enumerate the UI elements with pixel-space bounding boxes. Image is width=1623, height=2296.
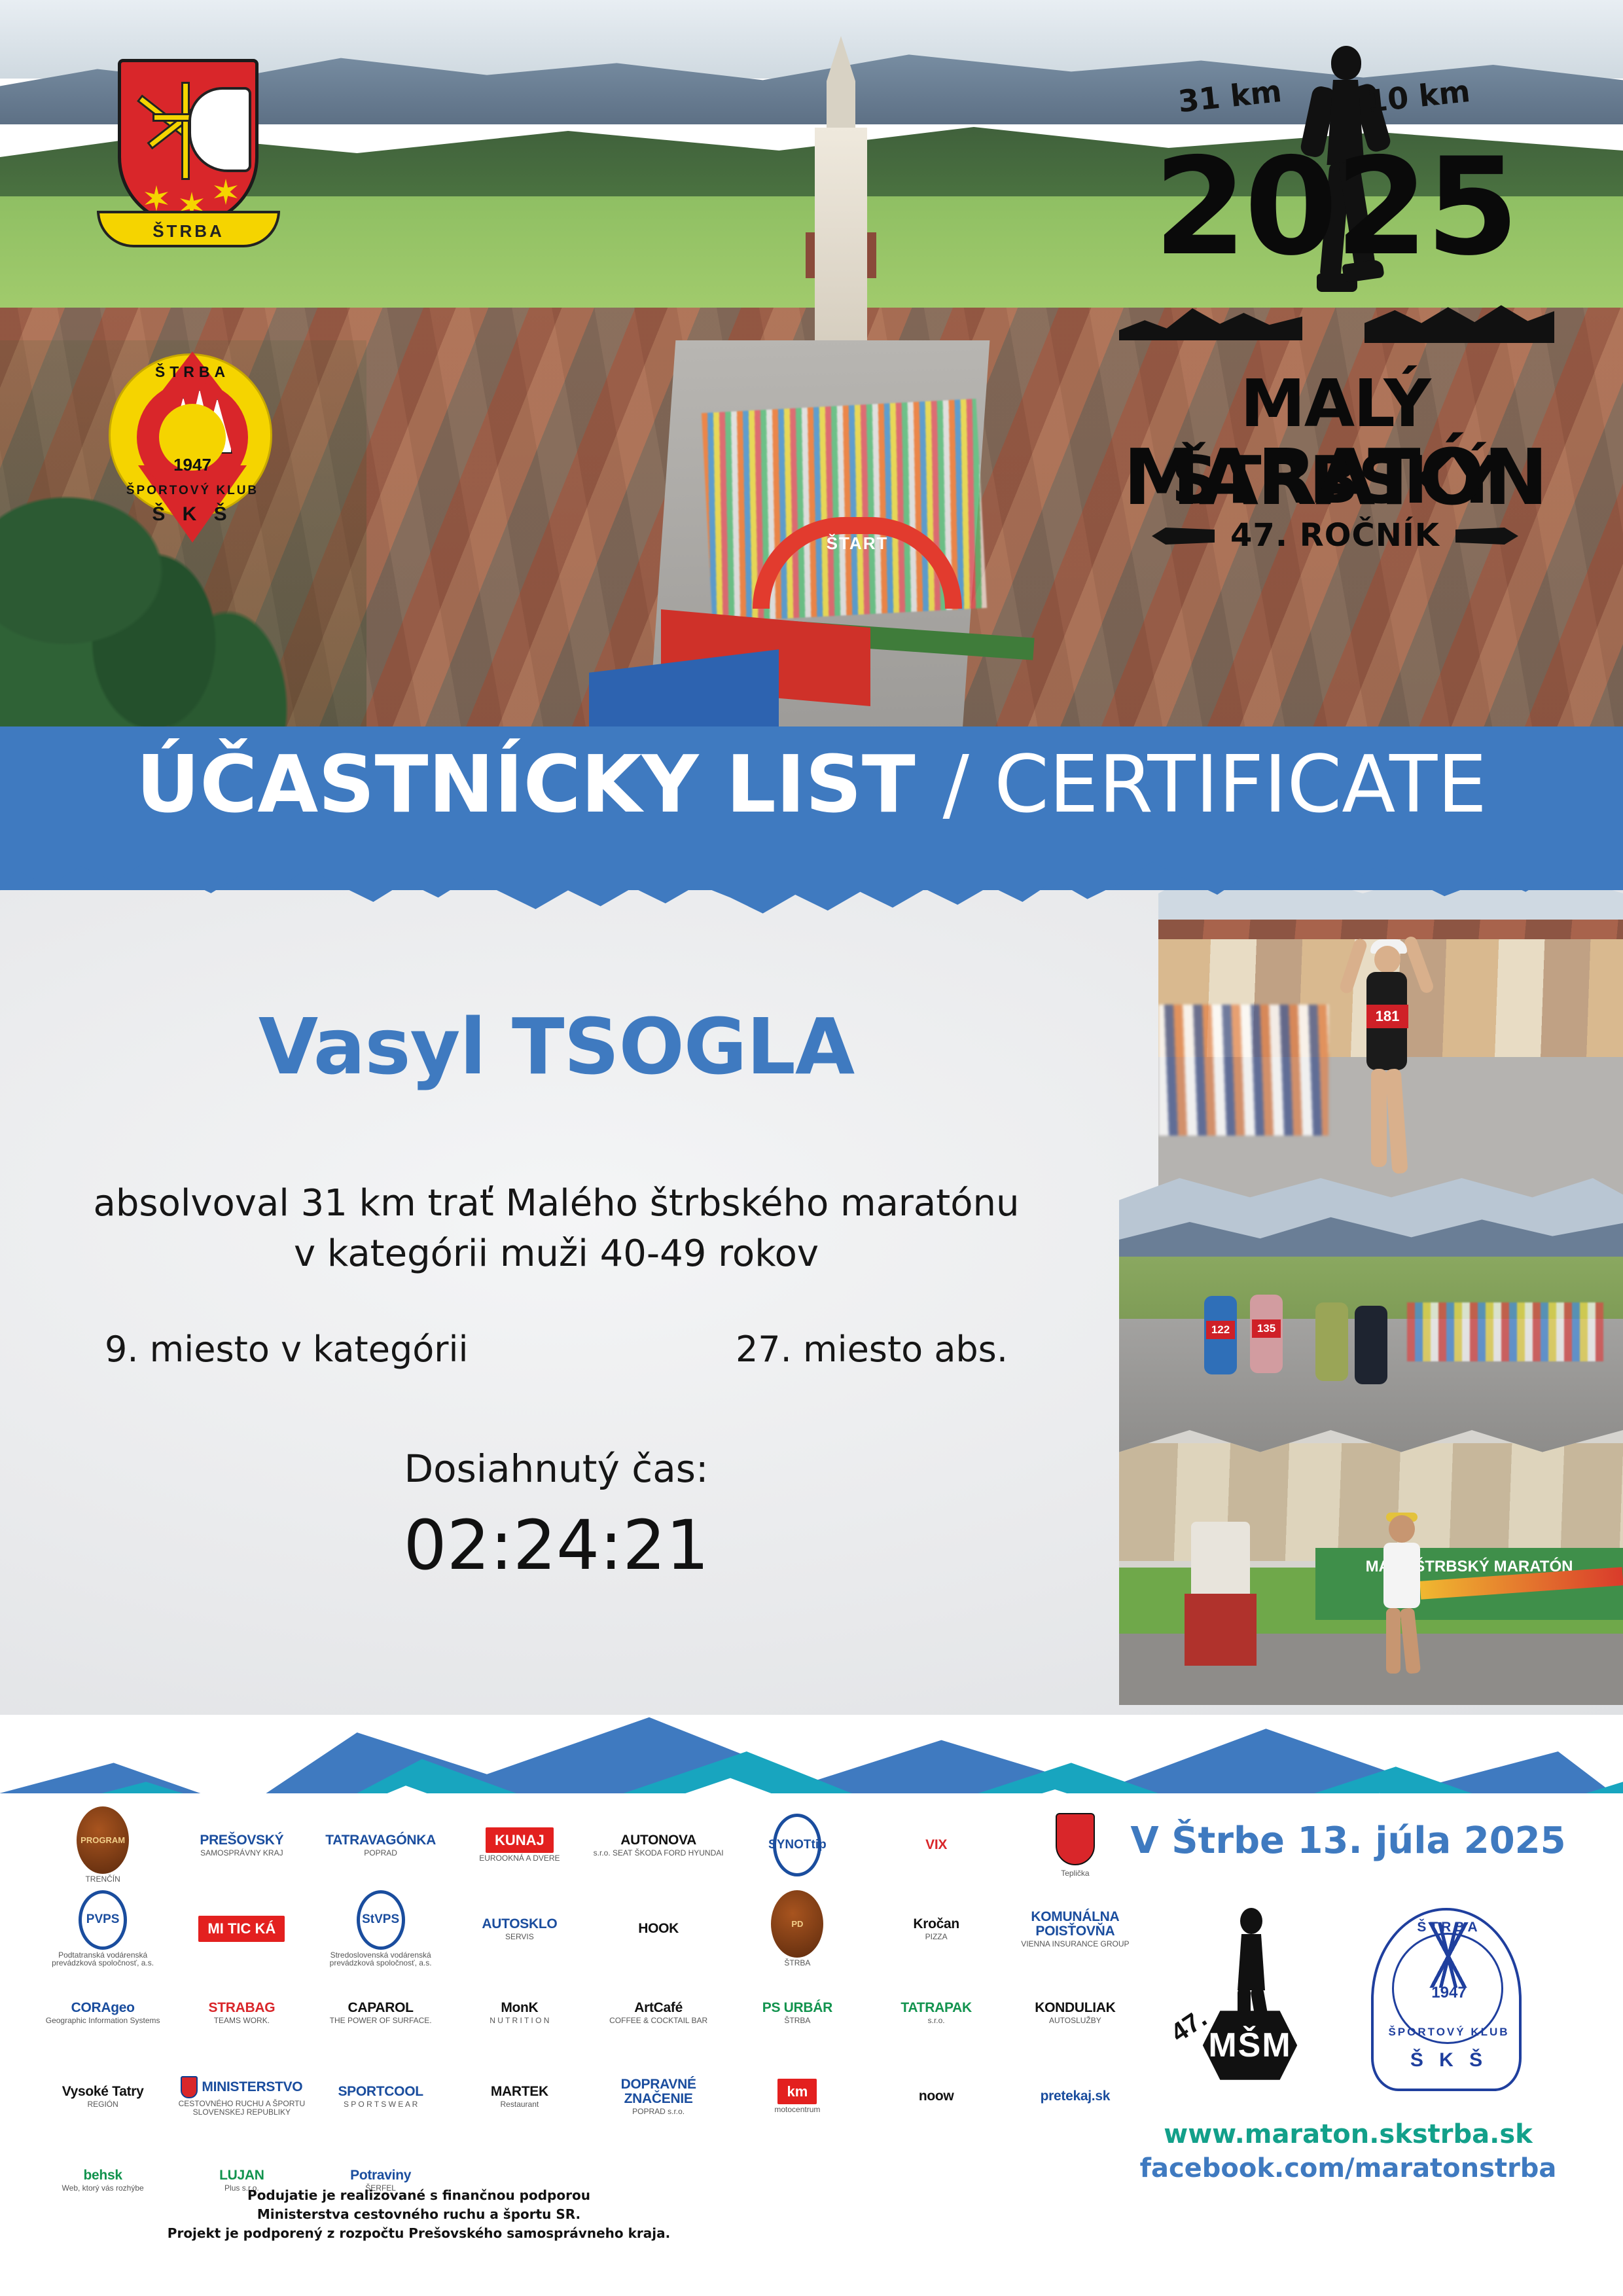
sponsor-name: MonK: [501, 2001, 538, 2015]
sks-stamp-mid-text: ŠPORTOVÝ KLUB: [1374, 2026, 1524, 2039]
placement-row: 9. miesto v kategórii 27. miesto abs.: [0, 1329, 1113, 1370]
marathon-event-logo: 2025 31 km 10 km MALÝ ŠTRBSKÝ MARATÓN 47…: [1113, 46, 1558, 602]
participant-name: Vasyl TSOGLA: [0, 1001, 1113, 1092]
sponsor-logo: Vysoké TatryREGIÓN: [36, 2058, 169, 2135]
bib-number-181: 181: [1366, 1005, 1408, 1028]
sponsor-logo: TATRAPAKs.r.o.: [870, 1974, 1003, 2051]
sponsor-name: KONDULIAK: [1035, 2001, 1115, 2015]
sponsor-logo: TATRAVAGÓNKAPOPRAD: [314, 1806, 448, 1884]
distance-31km: 31 km: [1177, 73, 1283, 119]
sponsor-name: Kročan: [913, 1917, 959, 1931]
slovak-flag-icon: [181, 2076, 198, 2098]
sponsor-name: km: [777, 2079, 817, 2104]
sponsor-tagline: s.r.o.: [928, 2017, 945, 2025]
sponsor-tagline: SERVIS: [505, 1933, 534, 1941]
sponsor-name: STRABAG: [209, 2001, 276, 2015]
sponsor-tagline: SAMOSPRÁVNY KRAJ: [200, 1849, 283, 1857]
sponsor-tagline: ŠTRBA: [784, 2017, 810, 2025]
sponsor-tagline: TRENČÍN: [85, 1875, 120, 1884]
sponsor-tagline: POPRAD s.r.o.: [632, 2108, 685, 2116]
funding-support-note: Podujatie je realizované s finančnou pod…: [39, 2186, 798, 2243]
sponsor-tagline: REGIÓN: [87, 2100, 118, 2109]
sponsor-name: HOOK: [638, 1922, 679, 1936]
sponsor-name: MARTEK: [491, 2085, 548, 2099]
msm-emblem: 47. MŠM: [1175, 1908, 1319, 2091]
sponsor-tagline: PIZZA: [925, 1933, 948, 1941]
sponsor-name: PS URBÁR: [762, 2001, 832, 2015]
event-edition: 47. ROČNÍK: [1113, 517, 1558, 554]
bib-number-135: 135: [1252, 1319, 1281, 1338]
msm-diamond-label: MŠM: [1188, 2006, 1312, 2085]
sks-logo-top-text: ŠTRBA: [111, 363, 274, 381]
sponsor-logo: kmmotocentrum: [730, 2058, 864, 2135]
sponsor-logo: MI TIC KÁ: [175, 1890, 308, 1967]
sponsor-logo: SYNOTtip: [730, 1806, 864, 1884]
finish-time-value: 02:24:21: [0, 1505, 1113, 1585]
sponsor-name: MI TIC KÁ: [198, 1916, 285, 1941]
sponsor-tagline: s.r.o. SEAT ŠKODA FORD HYUNDAI: [594, 1849, 724, 1857]
sponsor-name: CAPAROL: [348, 2001, 414, 2015]
sponsor-seal-icon: PD: [771, 1890, 823, 1958]
footer-emblems: 47. MŠM ŠTRBA 1947 ŠPORTOVÝ KLUB Š K Š: [1119, 1892, 1577, 2108]
sks-stamp-peaks-icon: [1397, 1922, 1499, 1988]
sks-club-logo: ŠTRBA 1947 ŠPORTOVÝ KLUB Š K Š: [109, 353, 272, 517]
sponsor-logo: CORAgeoGeographic Information Systems: [36, 1974, 169, 2051]
sponsor-tagline: Geographic Information Systems: [46, 2017, 160, 2025]
sponsor-logo: PREŠOVSKÝSAMOSPRÁVNY KRAJ: [175, 1806, 308, 1884]
sponsor-tagline: S P O R T S W E A R: [344, 2100, 418, 2109]
sponsor-logo: AUTOSKLOSERVIS: [453, 1890, 586, 1967]
sponsor-tagline: VIENNA INSURANCE GROUP: [1021, 1940, 1129, 1948]
photo-runners-on-road: 122 135: [1119, 1178, 1623, 1453]
sponsor-name: Potraviny: [350, 2168, 411, 2183]
sponsor-footer: PROGRAMTRENČÍNPREŠOVSKÝSAMOSPRÁVNY KRAJT…: [0, 1793, 1623, 2296]
mountain-right-icon: [1364, 293, 1554, 343]
event-year: 2025: [1113, 144, 1558, 272]
bib-number-122: 122: [1206, 1321, 1235, 1339]
facebook-link[interactable]: facebook.com/maratonstrba: [1119, 2153, 1577, 2183]
mountain-left-icon: [1119, 295, 1302, 340]
church-icon: [802, 36, 880, 363]
sponsor-logo: PROGRAMTRENČÍN: [36, 1806, 169, 1884]
sponsor-name: Vysoké Tatry: [62, 2085, 144, 2099]
sponsor-mark-icon: SYNOTtip: [773, 1814, 821, 1876]
sponsor-tagline: POPRAD: [364, 1849, 397, 1857]
sks-stamp-year: 1947: [1374, 1984, 1524, 2002]
sponsor-tagline: TEAMS WORK.: [214, 2017, 270, 2025]
sponsor-logo: noow: [870, 2058, 1003, 2135]
race-photo-collage: 181 122 135 MALÝ ŠTRBSKÝ MARATÓN: [1113, 870, 1623, 1708]
sks-logo-mid-text: ŠPORTOVÝ KLUB: [111, 484, 274, 498]
sponsor-mark-icon: StVPS: [357, 1890, 405, 1950]
sponsor-logo: KročanPIZZA: [870, 1890, 1003, 1967]
sponsor-name: behsk: [84, 2168, 122, 2183]
time-label: Dosiahnutý čas:: [0, 1446, 1113, 1491]
sponsor-name: LUJAN: [219, 2168, 264, 2183]
sponsor-tagline: COFFEE & COCKTAIL BAR: [609, 2017, 707, 2025]
sks-stamp-abbrev: Š K Š: [1374, 2049, 1524, 2072]
certificate-description: absolvoval 31 km trať Malého štrbského m…: [0, 1178, 1113, 1280]
sponsor-name: PREŠOVSKÝ: [200, 1833, 283, 1848]
sponsor-name: VIX: [925, 1838, 947, 1852]
crest-ribbon: ŠTRBA: [97, 211, 280, 247]
sponsor-logo: StVPSStredoslovenská vodárenská prevádzk…: [314, 1890, 448, 1967]
issue-date: V Štrbe 13. júla 2025: [1119, 1820, 1577, 1862]
support-note-line-2: Ministerstva cestovného ruchu a športu S…: [39, 2205, 798, 2224]
sponsor-logo: MINISTERSTVOCESTOVNÉHO RUCHU A ŠPORTU SL…: [175, 2058, 308, 2135]
description-line-1: absolvoval 31 km trať Malého štrbského m…: [0, 1178, 1113, 1229]
certificate-title-separator: /: [943, 740, 995, 831]
sponsor-mark-icon: PVPS: [79, 1890, 127, 1950]
sponsor-tagline: Podtatranská vodárenská prevádzková spol…: [36, 1951, 169, 1967]
sponsor-name: CORAgeo: [71, 2001, 135, 2015]
sks-logo-abbrev: Š K Š: [111, 503, 274, 526]
sponsor-tagline: Teplička: [1061, 1869, 1089, 1878]
sponsor-logo: MARTEKRestaurant: [453, 2058, 586, 2135]
certificate-title-sk: ÚČASTNÍCKY LIST: [136, 740, 943, 831]
msm-runner-icon: [1226, 1908, 1274, 2026]
sponsor-logo: HOOK: [592, 1890, 725, 1967]
sponsor-name: pretekaj.sk: [1041, 2089, 1110, 2104]
distance-mountains: [1113, 288, 1558, 353]
sponsor-logo: VIX: [870, 1806, 1003, 1884]
sponsor-logo: STRABAGTEAMS WORK.: [175, 1974, 308, 2051]
certificate-title-en: CERTIFICATE: [994, 740, 1487, 831]
sponsor-tagline: CESTOVNÉHO RUCHU A ŠPORTU SLOVENSKEJ REP…: [175, 2100, 308, 2116]
sponsor-tagline: EUROOKNÁ A DVERE: [479, 1854, 560, 1863]
support-note-line-1: Podujatie je realizované s finančnou pod…: [39, 2186, 798, 2205]
sponsor-logo: SPORTCOOLS P O R T S W E A R: [314, 2058, 448, 2135]
place-absolute: 27. miesto abs.: [736, 1329, 1008, 1370]
sponsor-name: SPORTCOOL: [338, 2085, 423, 2099]
sponsor-logo: PDŠTRBA: [730, 1890, 864, 1967]
sponsor-logo-grid: PROGRAMTRENČÍNPREŠOVSKÝSAMOSPRÁVNY KRAJT…: [36, 1806, 1142, 2173]
start-arch-label: ŠTART: [815, 533, 900, 554]
sponsor-name: TATRAPAK: [901, 2001, 971, 2015]
sponsor-tagline: N U T R I T I O N: [490, 2017, 549, 2025]
sponsor-name: ArtCafé: [634, 2001, 683, 2015]
sponsor-tagline: motocentrum: [774, 2106, 820, 2114]
sponsor-tagline: ŠTRBA: [784, 1959, 810, 1967]
photo-female-finisher: 181: [1158, 874, 1623, 1201]
sks-stamp-emblem: ŠTRBA 1947 ŠPORTOVÝ KLUB Š K Š: [1371, 1908, 1522, 2091]
sponsor-name: AUTOSKLO: [482, 1917, 557, 1931]
sponsor-logo: ArtCaféCOFFEE & COCKTAIL BAR: [592, 1974, 725, 2051]
sks-logo-year: 1947: [137, 455, 248, 475]
website-link[interactable]: www.maraton.skstrba.sk: [1119, 2119, 1577, 2149]
sponsor-shield-icon: [1056, 1813, 1095, 1865]
description-line-2: v kategórii muži 40-49 rokov: [0, 1229, 1113, 1279]
event-title-line2: MARATÓN: [1113, 432, 1558, 522]
sponsor-name: DOPRAVNÉ ZNAČENIE: [592, 2077, 725, 2106]
sponsor-logo: CAPAROLTHE POWER OF SURFACE.: [314, 1974, 448, 2051]
sponsor-name: noow: [919, 2089, 954, 2104]
place-in-category: 9. miesto v kategórii: [105, 1329, 468, 1370]
sponsor-logo: PVPSPodtatranská vodárenská prevádzková …: [36, 1890, 169, 1967]
contact-links: www.maraton.skstrba.sk facebook.com/mara…: [1119, 2119, 1577, 2183]
sponsor-logo: AUTONOVAs.r.o. SEAT ŠKODA FORD HYUNDAI: [592, 1806, 725, 1884]
photo-male-finisher: MALÝ ŠTRBSKÝ MARATÓN: [1119, 1430, 1623, 1705]
sponsor-seal-icon: PROGRAM: [77, 1806, 129, 1874]
sponsor-name: TATRAVAGÓNKA: [325, 1833, 436, 1848]
sponsor-tagline: AUTOSLUŽBY: [1049, 2017, 1101, 2025]
sponsor-logo: DOPRAVNÉ ZNAČENIEPOPRAD s.r.o.: [592, 2058, 725, 2135]
sponsor-name: MINISTERSTVO: [202, 2080, 302, 2094]
sponsor-name: AUTONOVA: [620, 1833, 696, 1848]
sponsor-logo: KUNAJEUROOKNÁ A DVERE: [453, 1806, 586, 1884]
sponsor-tagline: Restaurant: [501, 2100, 539, 2109]
support-note-line-3: Projekt je podporený z rozpočtu Prešovsk…: [39, 2224, 798, 2243]
sponsor-logo: MonKN U T R I T I O N: [453, 1974, 586, 2051]
strba-municipal-crest: [118, 59, 259, 226]
sponsor-logo: PS URBÁRŠTRBA: [730, 1974, 864, 2051]
crest-municipality-label: ŠTRBA: [99, 221, 277, 242]
sponsor-tagline: THE POWER OF SURFACE.: [330, 2017, 432, 2025]
certificate-title: ÚČASTNÍCKY LIST / CERTIFICATE: [0, 746, 1623, 825]
sponsor-tagline: Stredoslovenská vodárenská prevádzková s…: [314, 1951, 448, 1967]
sponsor-name: KUNAJ: [486, 1827, 554, 1853]
